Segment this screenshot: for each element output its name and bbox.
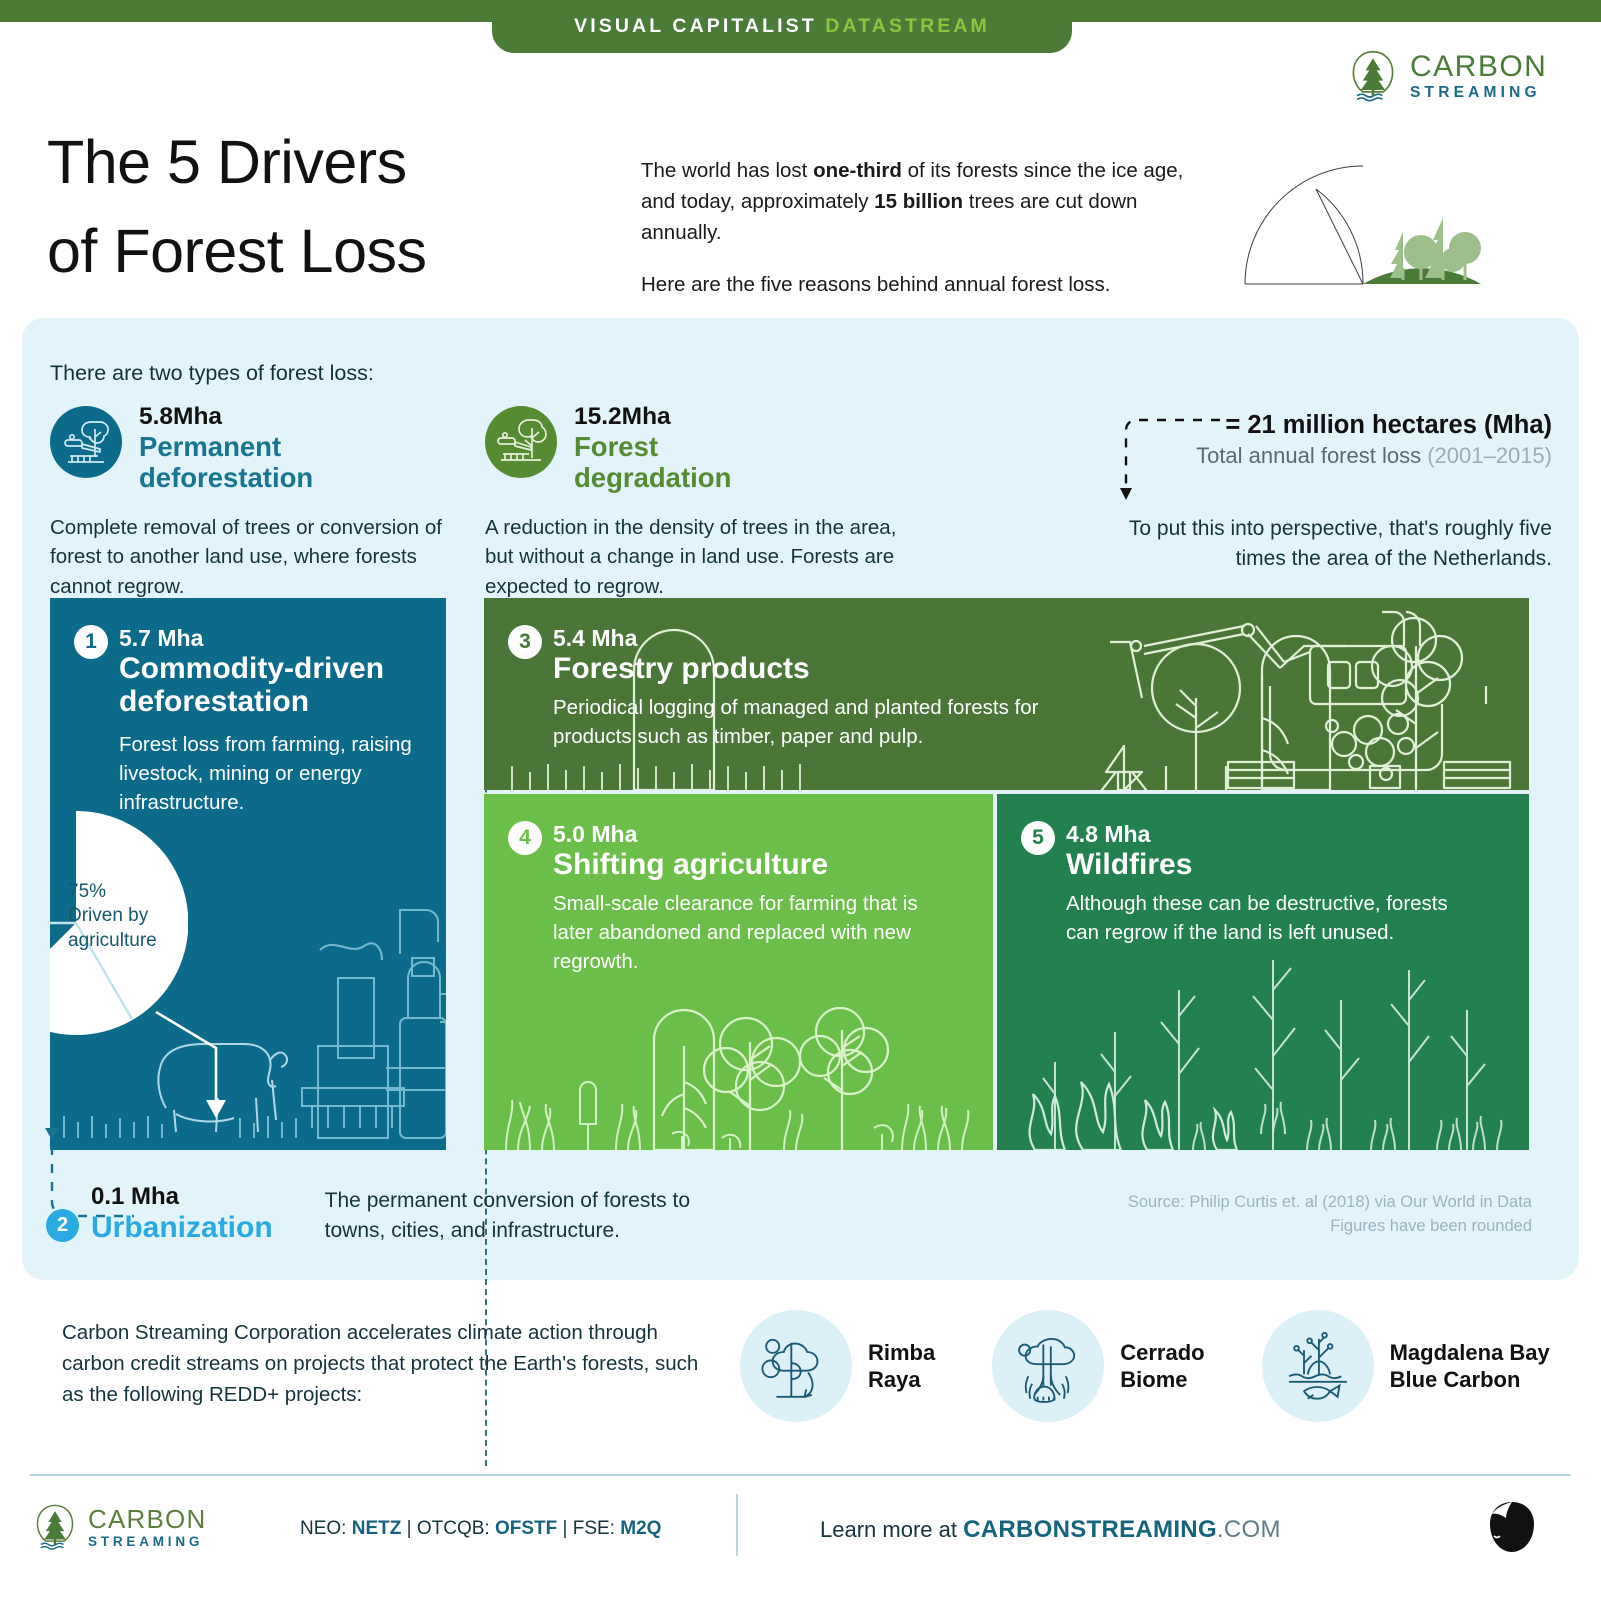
total-headline: = 21 million hectares (Mha) bbox=[1090, 411, 1552, 440]
intro-paragraph-1: The world has lost one-third of its fore… bbox=[641, 155, 1186, 248]
redd-projects-list: Rimba Raya Cerrado Biome bbox=[740, 1310, 1550, 1422]
panel-number: 4 bbox=[508, 821, 542, 855]
card-intro-text: There are two types of forest loss: bbox=[50, 361, 374, 386]
website-url: CARBONSTREAMING bbox=[963, 1516, 1217, 1543]
type-label-line1: Permanent bbox=[139, 432, 313, 463]
mangrove-glyph bbox=[1276, 1324, 1360, 1408]
total-perspective-text: To put this into perspective, that's rou… bbox=[1090, 514, 1552, 575]
panel-number: 1 bbox=[74, 625, 108, 659]
banner-text: VISUAL CAPITALIST DATASTREAM bbox=[574, 15, 990, 38]
source-line-1: Source: Philip Curtis et. al (2018) via … bbox=[1052, 1190, 1532, 1214]
project-name: Magdalena Bay Blue Carbon bbox=[1390, 1339, 1550, 1394]
project-item-rimba-raya[interactable]: Rimba Raya bbox=[740, 1310, 935, 1422]
forest-loss-type-degradation: 15.2Mha Forest degradation A reduction i… bbox=[485, 403, 910, 601]
type-amount: 15.2Mha bbox=[574, 403, 731, 432]
type-amount: 5.8Mha bbox=[139, 403, 313, 432]
pie-label-line3: agriculture bbox=[68, 929, 157, 953]
panel-title-line1: Commodity-driven bbox=[119, 652, 419, 686]
project-item-cerrado-biome[interactable]: Cerrado Biome bbox=[992, 1310, 1204, 1422]
urbanization-row: 2 0.1 Mha Urbanization The permanent con… bbox=[46, 1182, 725, 1246]
panel-amount: 5.0 Mha bbox=[553, 821, 923, 848]
panel-amount: 5.7 Mha bbox=[119, 625, 419, 652]
total-sub-years: (2001–2015) bbox=[1427, 443, 1552, 468]
about-carbon-streaming-text: Carbon Streaming Corporation accelerates… bbox=[62, 1318, 702, 1410]
intro-text-block: The world has lost one-third of its fore… bbox=[641, 155, 1186, 301]
total-sub-main: Total annual forest loss bbox=[1196, 443, 1427, 468]
type-label-line2: degradation bbox=[574, 463, 731, 494]
type-description: A reduction in the density of trees in t… bbox=[485, 513, 910, 602]
panel-title-line2: deforestation bbox=[119, 685, 419, 719]
pie-label-line2: Driven by bbox=[68, 904, 157, 928]
ticker-netz: NETZ bbox=[352, 1518, 402, 1539]
ticker-prefix-neo: NEO: bbox=[300, 1518, 352, 1539]
website-domain: .COM bbox=[1217, 1516, 1281, 1543]
panel-title: Shifting agriculture bbox=[553, 848, 923, 882]
mangrove-icon bbox=[1262, 1310, 1374, 1422]
panel-header: 4 5.0 Mha Shifting agriculture Small-sca… bbox=[508, 821, 923, 977]
type-description: Complete removal of trees or conversion … bbox=[50, 513, 448, 602]
panel-number: 5 bbox=[1021, 821, 1055, 855]
ticker-prefix-otcqb: | OTCQB: bbox=[401, 1518, 495, 1539]
datastream-banner: VISUAL CAPITALIST DATASTREAM bbox=[492, 0, 1072, 53]
source-note: Source: Philip Curtis et. al (2018) via … bbox=[1052, 1190, 1532, 1239]
panel-header: 3 5.4 Mha Forestry products Periodical l… bbox=[508, 625, 1053, 751]
chainsaw-tree-glyph bbox=[485, 406, 557, 478]
carbon-streaming-logo-header: CARBON STREAMING bbox=[1345, 48, 1547, 104]
urbanization-title: Urbanization bbox=[91, 1211, 273, 1244]
logo-word-carbon: CARBON bbox=[88, 1506, 206, 1532]
banner-primary: VISUAL CAPITALIST bbox=[574, 15, 825, 37]
panel-title: Wildfires bbox=[1066, 848, 1466, 882]
pie-percent: 75% bbox=[68, 880, 157, 904]
forest-loss-gauge-icon bbox=[1243, 160, 1483, 286]
panel-number: 3 bbox=[508, 625, 542, 659]
savanna-tree-glyph bbox=[1006, 1324, 1090, 1408]
learn-more-link[interactable]: Learn more at CARBONSTREAMING.COM bbox=[820, 1516, 1281, 1544]
driver-panel-commodity-driven[interactable]: 1 5.7 Mha Commodity-driven deforestation… bbox=[50, 598, 446, 1150]
pie-pointer-arrow-icon bbox=[154, 1006, 264, 1126]
panel-header: 5 4.8 Mha Wildfires Although these can b… bbox=[1021, 821, 1466, 947]
panel-description: Small-scale clearance for farming that i… bbox=[553, 889, 923, 976]
driver-panel-shifting-agriculture[interactable]: 4 5.0 Mha Shifting agriculture Small-sca… bbox=[484, 794, 993, 1150]
chainsaw-stump-glyph bbox=[50, 406, 122, 478]
urbanization-amount: 0.1 Mha bbox=[91, 1183, 273, 1211]
chainsaw-stump-icon bbox=[50, 406, 122, 478]
footer-divider bbox=[30, 1474, 1571, 1476]
logo-word-streaming: STREAMING bbox=[1410, 85, 1547, 101]
source-line-2: Figures have been rounded bbox=[1052, 1214, 1532, 1238]
intro-bold-15-billion: 15 billion bbox=[874, 190, 963, 213]
intro-seg-a: The world has lost bbox=[641, 159, 813, 182]
title-line-1: The 5 Drivers bbox=[47, 118, 607, 207]
footer-vertical-divider bbox=[736, 1494, 738, 1556]
ticker-prefix-fse: | FSE: bbox=[557, 1518, 620, 1539]
savanna-tree-icon bbox=[992, 1310, 1104, 1422]
logo-word-carbon: CARBON bbox=[1410, 52, 1547, 82]
stock-tickers: NEO: NETZ | OTCQB: OFSTF | FSE: M2Q bbox=[300, 1518, 661, 1540]
urbanization-label-block: 0.1 Mha Urbanization bbox=[91, 1183, 273, 1244]
logo-word-streaming: STREAMING bbox=[88, 1535, 206, 1549]
forest-canopy-icon bbox=[740, 1310, 852, 1422]
chainsaw-tree-icon bbox=[485, 406, 557, 478]
project-name: Cerrado Biome bbox=[1120, 1339, 1204, 1394]
intro-paragraph-2: Here are the five reasons behind annual … bbox=[641, 269, 1186, 300]
panel-amount: 5.4 Mha bbox=[553, 625, 1053, 652]
forest-canopy-glyph bbox=[754, 1324, 838, 1408]
infographic-page: VISUAL CAPITALIST DATASTREAM CARBON STRE… bbox=[0, 0, 1601, 1601]
pine-tree-logo-icon bbox=[1345, 48, 1401, 104]
intro-bold-one-third: one-third bbox=[813, 159, 902, 182]
type-header: 5.8Mha Permanent deforestation bbox=[50, 403, 448, 494]
ticker-m2q: M2Q bbox=[620, 1518, 661, 1539]
page-title: The 5 Drivers of Forest Loss bbox=[47, 118, 607, 296]
type-header: 15.2Mha Forest degradation bbox=[485, 403, 910, 494]
ticker-ofstf: OFSTF bbox=[495, 1518, 557, 1539]
project-name: Rimba Raya bbox=[868, 1339, 935, 1394]
banner-accent: DATASTREAM bbox=[825, 15, 990, 37]
panel-title: Forestry products bbox=[553, 652, 1053, 686]
type-label-line2: deforestation bbox=[139, 463, 313, 494]
project-item-magdalena-bay[interactable]: Magdalena Bay Blue Carbon bbox=[1262, 1310, 1550, 1422]
pine-tree-logo-icon bbox=[30, 1502, 80, 1552]
panel-description: Periodical logging of managed and plante… bbox=[553, 693, 1053, 751]
total-annual-loss-callout: = 21 million hectares (Mha) Total annual… bbox=[1090, 411, 1552, 575]
driver-panel-wildfires[interactable]: 5 4.8 Mha Wildfires Although these can b… bbox=[997, 794, 1529, 1150]
panel-amount: 4.8 Mha bbox=[1066, 821, 1466, 848]
urbanization-number: 2 bbox=[46, 1209, 79, 1242]
driver-panel-forestry-products[interactable]: 3 5.4 Mha Forestry products Periodical l… bbox=[484, 598, 1529, 790]
learn-more-prefix: Learn more at bbox=[820, 1517, 963, 1542]
panel-header: 1 5.7 Mha Commodity-driven deforestation… bbox=[74, 625, 419, 817]
visual-capitalist-mark-icon bbox=[1482, 1498, 1542, 1556]
urbanization-description: The permanent conversion of forests to t… bbox=[325, 1186, 725, 1246]
carbon-streaming-logo-footer: CARBON STREAMING bbox=[30, 1502, 206, 1552]
title-line-2: of Forest Loss bbox=[47, 207, 607, 296]
type-label-line1: Forest bbox=[574, 432, 731, 463]
panel-description: Forest loss from farming, raising livest… bbox=[119, 730, 419, 817]
total-subtitle: Total annual forest loss (2001–2015) bbox=[1090, 443, 1552, 469]
forest-loss-type-permanent: 5.8Mha Permanent deforestation Complete … bbox=[50, 403, 448, 601]
pie-annotation: 75% Driven by agriculture bbox=[68, 880, 157, 953]
panel-description: Although these can be destructive, fores… bbox=[1066, 889, 1466, 947]
